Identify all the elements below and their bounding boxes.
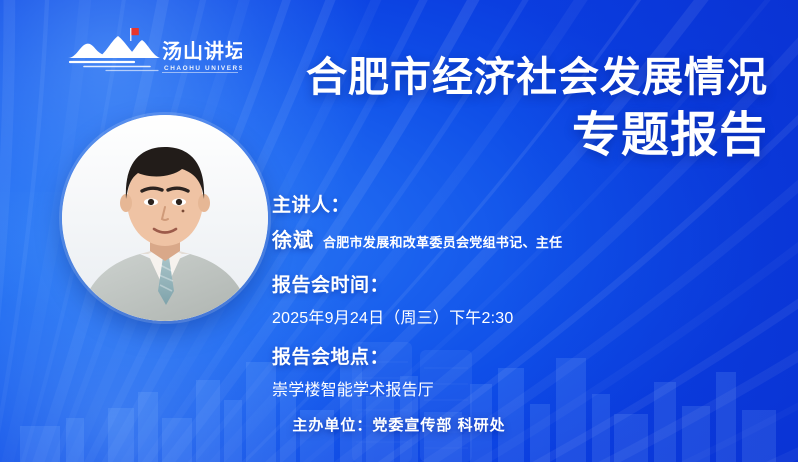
event-details: 主讲人： 徐斌 合肥市发展和改革委员会党组书记、主任 报告会时间： 2025年9… [272,190,702,400]
headline-line-1: 合肥市经济社会发展情况 [208,56,768,99]
speaker-title: 合肥市发展和改革委员会党组书记、主任 [323,232,562,251]
organizer-footer: 主办单位：党委宣传部 科研处 [0,414,798,435]
speaker-label: 主讲人： [272,190,702,217]
time-label: 报告会时间： [272,270,702,297]
place-label: 报告会地点： [272,342,702,369]
red-flag-icon [130,28,139,41]
headline-line-2: 专题报告 [208,111,768,162]
speaker-name: 徐斌 [272,224,314,253]
time-value: 2025年9月24日（周三）下午2:30 [272,304,702,328]
speaker-row: 徐斌 合肥市发展和改革委员会党组书记、主任 [272,224,702,253]
page-title: 合肥市经济社会发展情况 专题报告 [208,56,768,162]
event-poster: 汤山讲坛 CHAOHU UNIVERSITY 合肥市经济社会发展情况 专题报告 [0,0,798,462]
speaker-portrait-avatar [62,115,268,321]
place-value: 崇学楼智能学术报告厅 [272,376,702,400]
